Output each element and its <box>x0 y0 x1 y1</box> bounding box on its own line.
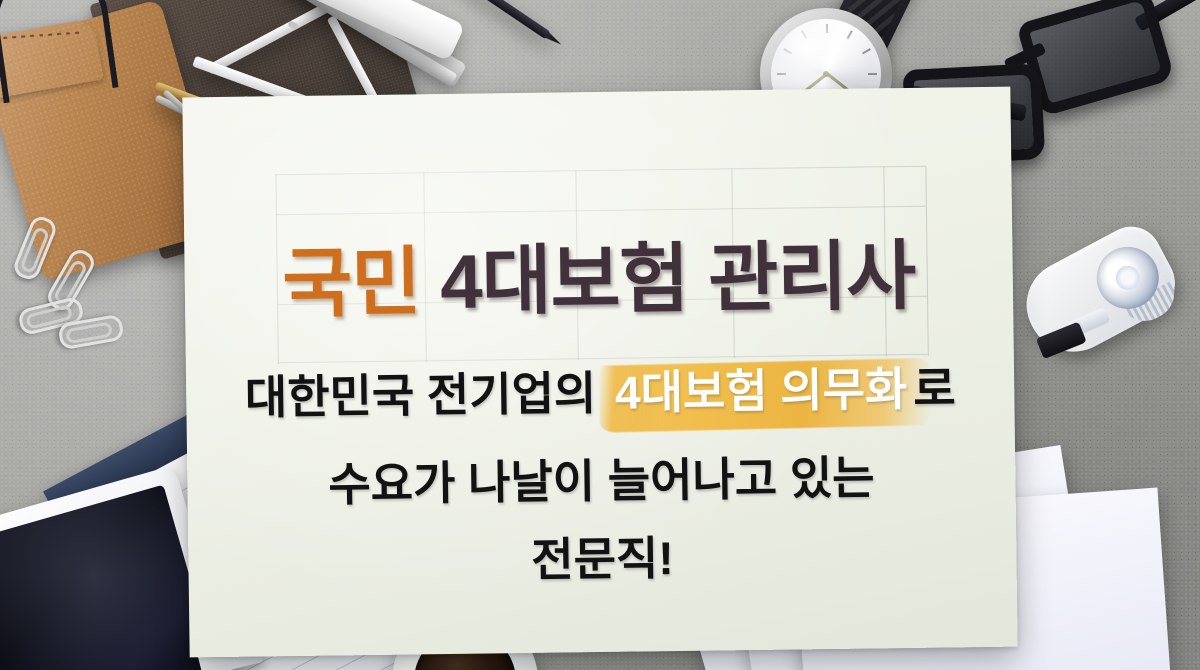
correction-tape-hub <box>1111 262 1143 294</box>
watch-center-pin <box>823 71 829 77</box>
page-title: 국민 4대보험 관리사 <box>184 237 1013 324</box>
title-highlight-word: 국민 <box>282 240 421 327</box>
subtitle-line-1: 대한민국 전기업의 4대보험 의무화로 <box>186 363 1015 424</box>
subtitle-line-3: 전문직! <box>188 529 1017 590</box>
banner-text-block: 국민 4대보험 관리사 대한민국 전기업의 4대보험 의무화로 수요가 나날이 … <box>182 87 1017 658</box>
banner-stage: 국민 4대보험 관리사 대한민국 전기업의 4대보험 의무화로 수요가 나날이 … <box>0 0 1200 670</box>
pencil-case-cord <box>0 0 119 103</box>
subtitle-line-1-before: 대한민국 전기업의 <box>245 367 610 424</box>
subtitle-highlight-marker: 4대보험 의무화 <box>609 364 914 419</box>
subtitle-line-2: 수요가 나날이 늘어나고 있는 <box>187 451 1016 512</box>
subtitle-line-1-after: 로 <box>913 362 956 415</box>
title-rest: 4대보험 관리사 <box>420 234 916 325</box>
